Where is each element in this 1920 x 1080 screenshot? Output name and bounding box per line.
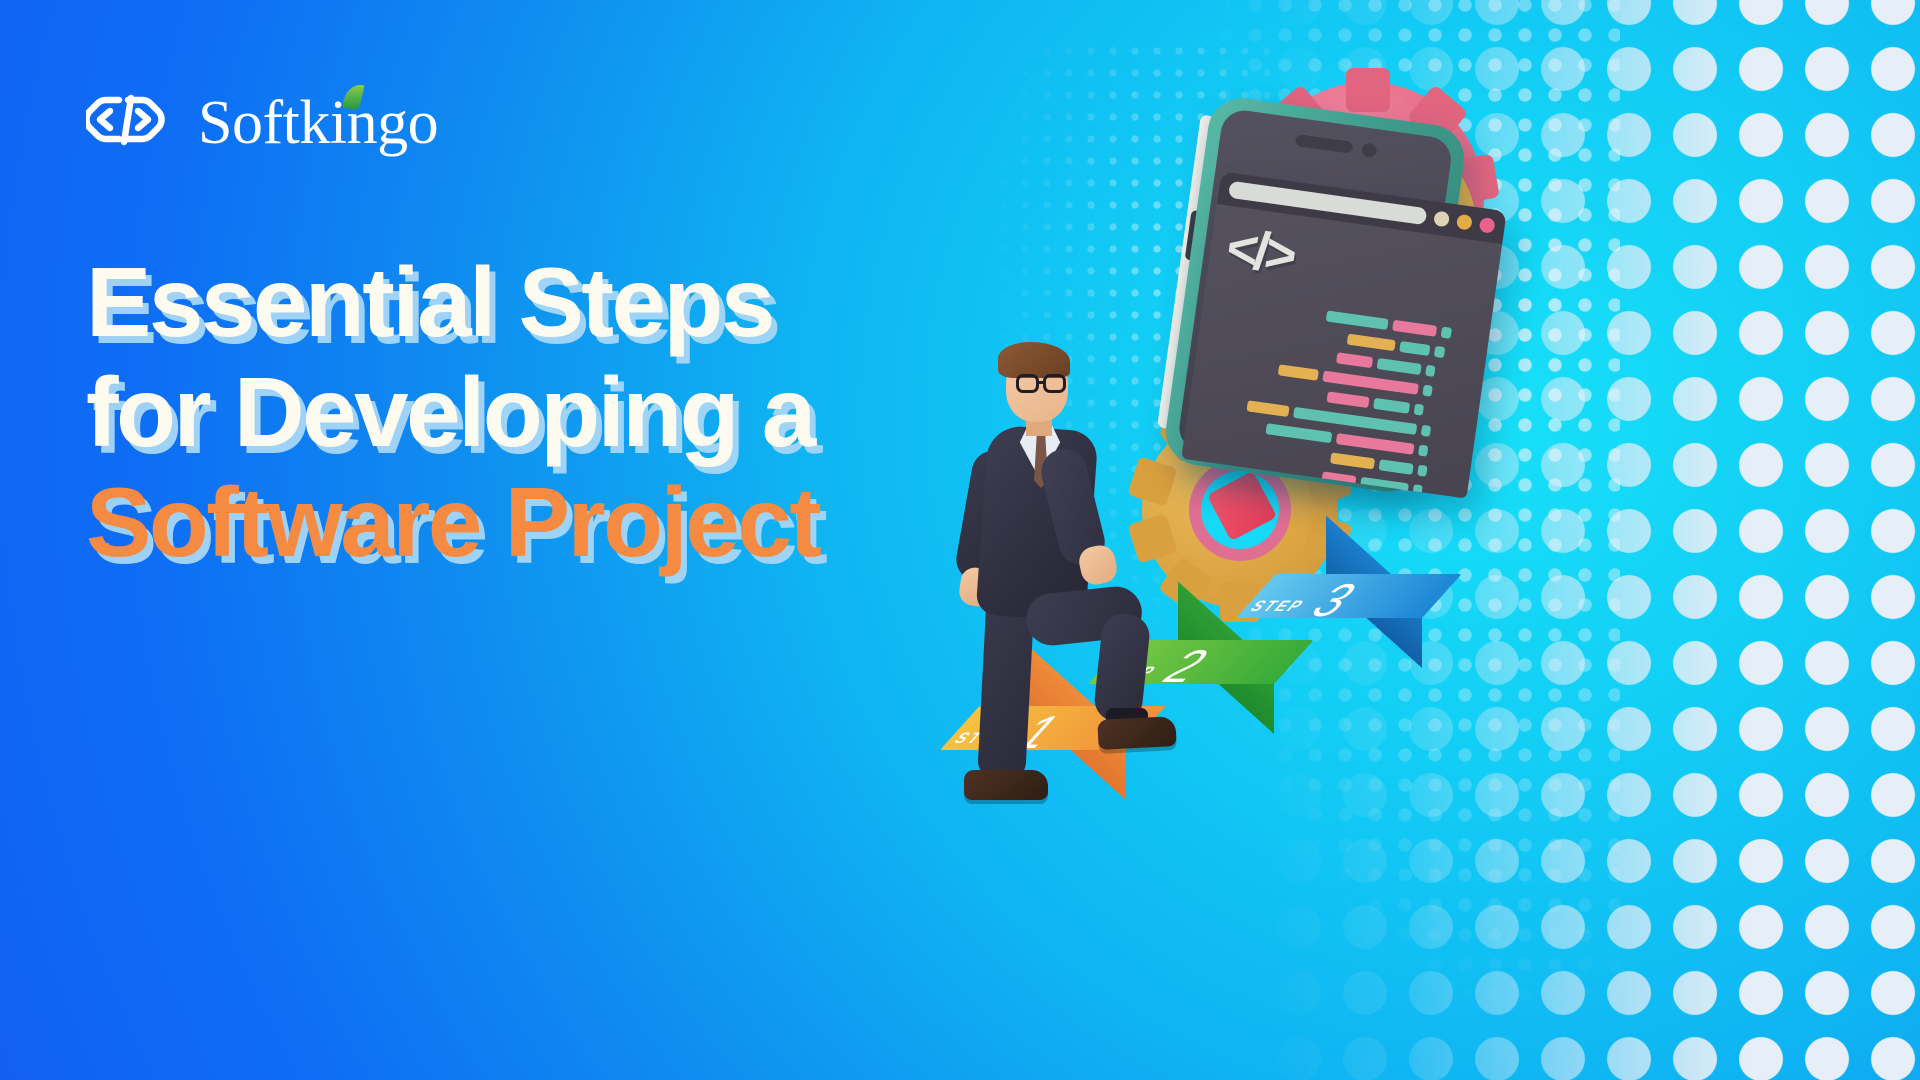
window-dot-pink[interactable]: [1479, 217, 1496, 234]
headline-line-2: for Developing a: [86, 358, 986, 468]
headline-line-3: Software Project: [86, 468, 986, 578]
hair: [998, 342, 1070, 378]
window-dot-beige[interactable]: [1433, 210, 1450, 227]
brand-name-text: Softkingo: [198, 89, 438, 157]
hero-illustration: </> STEP 3: [900, 40, 1920, 1040]
businessman-character: [930, 340, 1190, 820]
brand-logo[interactable]: Softkingo: [86, 92, 438, 154]
phone-notch: [1294, 132, 1377, 158]
banner-canvas: Softkingo Essential Steps for Developing…: [0, 0, 1920, 1080]
code-editor-window: </>: [1181, 171, 1507, 498]
code-tag-icon: </>: [1223, 220, 1296, 283]
glasses-icon: [1016, 374, 1074, 393]
headline-line-1: Essential Steps: [86, 248, 986, 358]
code-brackets-icon: [86, 92, 182, 154]
back-shoe: [964, 770, 1048, 800]
camera-icon: [1361, 141, 1378, 158]
page-title: Essential Steps for Developing a Softwar…: [86, 248, 986, 577]
front-shoe: [1097, 716, 1176, 750]
brand-name: Softkingo: [198, 92, 438, 154]
window-dot-amber[interactable]: [1456, 214, 1473, 231]
